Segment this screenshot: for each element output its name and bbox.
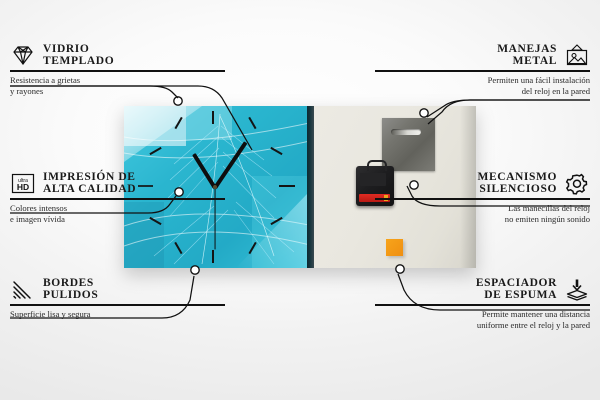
feature-header: ESPACIADOR DE ESPUMA — [375, 278, 590, 301]
feature-description: Superficie lisa y segura — [10, 309, 225, 320]
foam-spacer — [386, 239, 403, 256]
feature-title-line1: VIDRIO — [43, 44, 114, 56]
gear-icon — [564, 172, 590, 195]
feature-bordes-pulidos: BORDES PULIDOS Superficie lisa y segura — [10, 278, 225, 320]
ultra-hd-icon: ultra HD — [10, 172, 36, 195]
feature-title-line2: PULIDOS — [43, 290, 98, 302]
feature-header: MECANISMO SILENCIOSO — [375, 172, 590, 195]
feature-title-line2: METAL — [497, 56, 557, 68]
feature-vidrio-templado: VIDRIO TEMPLADO Resistencia a grietas y … — [10, 44, 225, 97]
picture-hanger-icon — [564, 44, 590, 67]
feature-titles: MECANISMO SILENCIOSO — [477, 172, 557, 195]
feature-header: BORDES PULIDOS — [10, 278, 225, 301]
clock-marker-3 — [279, 185, 295, 187]
svg-text:HD: HD — [17, 182, 29, 192]
feature-titles: ESPACIADOR DE ESPUMA — [476, 278, 557, 301]
clock-marker-6 — [212, 250, 214, 263]
hanger-slot — [391, 129, 421, 135]
feature-description: Colores intensos e imagen vívida — [10, 203, 225, 226]
feature-title-line2: TEMPLADO — [43, 56, 114, 68]
feature-rule — [375, 70, 590, 71]
feature-titles: IMPRESIÓN DE ALTA CALIDAD — [43, 172, 136, 195]
feature-mecanismo-silencioso: MECANISMO SILENCIOSO Las manecillas del … — [375, 172, 590, 225]
foam-spacer-icon — [564, 278, 590, 301]
feature-titles: VIDRIO TEMPLADO — [43, 44, 114, 67]
mechanism-hanging-loop — [367, 160, 387, 171]
feature-title-line2: ALTA CALIDAD — [43, 184, 136, 196]
feature-title-line1: MANEJAS — [497, 44, 557, 56]
feature-header: VIDRIO TEMPLADO — [10, 44, 225, 67]
feature-rule — [10, 198, 225, 199]
feature-espaciador-espuma: ESPACIADOR DE ESPUMA Permite mantener un… — [375, 278, 590, 331]
feature-title-line1: MECANISMO — [477, 172, 557, 184]
feature-header: MANEJAS METAL — [375, 44, 590, 67]
feature-manejas-metal: MANEJAS METAL Permiten una fácil instala… — [375, 44, 590, 97]
feature-title-line1: BORDES — [43, 278, 98, 290]
feature-title-line1: IMPRESIÓN DE — [43, 172, 136, 184]
feature-rule — [375, 198, 590, 199]
feature-rule — [375, 304, 590, 305]
wire-node-vidrio-templado — [174, 97, 182, 105]
diamond-icon — [10, 44, 36, 67]
clock-marker-12 — [212, 111, 214, 124]
infographic-canvas: VIDRIO TEMPLADO Resistencia a grietas y … — [0, 0, 600, 400]
polished-edges-icon — [10, 278, 36, 301]
feature-description: Permiten una fácil instalación del reloj… — [375, 75, 590, 98]
feature-description: Las manecillas del reloj no emiten ningú… — [375, 203, 590, 226]
feature-titles: BORDES PULIDOS — [43, 278, 98, 301]
feature-impresion-alta-calidad: ultra HD IMPRESIÓN DE ALTA CALIDAD Color… — [10, 172, 225, 225]
feature-header: ultra HD IMPRESIÓN DE ALTA CALIDAD — [10, 172, 225, 195]
feature-description: Resistencia a grietas y rayones — [10, 75, 225, 98]
feature-title-line1: ESPACIADOR — [476, 278, 557, 290]
feature-title-line2: SILENCIOSO — [477, 184, 557, 196]
glass-edge — [307, 106, 314, 268]
metal-hanger-plate — [382, 118, 435, 171]
feature-rule — [10, 304, 225, 305]
feature-titles: MANEJAS METAL — [497, 44, 557, 67]
feature-description: Permite mantener una distancia uniforme … — [375, 309, 590, 332]
feature-title-line2: DE ESPUMA — [476, 290, 557, 302]
feature-rule — [10, 70, 225, 71]
